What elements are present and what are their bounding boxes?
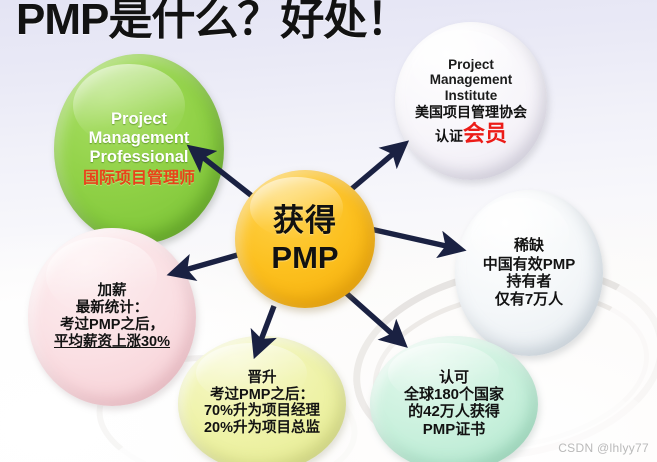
center-label-cn: 获得	[271, 203, 338, 238]
recognition-heading: 认可	[404, 370, 504, 385]
raise-body: 最新统计： 考过PMP之后， 平均薪资上涨30%	[54, 300, 170, 350]
bubble-project-management-institute[interactable]: Project Management Institute 美国项目管理协会 认证…	[395, 22, 547, 180]
scarcity-body-line-3: 仅有7万人	[483, 291, 576, 308]
arrow-to-recognize	[345, 292, 399, 340]
page-title: PMP是什么？好处！	[16, 0, 409, 42]
scarcity-body-line-2: 持有者	[483, 273, 576, 290]
arrow-to-pmi	[348, 148, 400, 192]
pmi-cert-line: 认证 会员	[415, 123, 527, 145]
scarcity-heading: 稀缺	[483, 238, 576, 253]
bubble-scarcity[interactable]: 稀缺 中国有效PMP 持有者 仅有7万人	[455, 190, 603, 356]
raise-heading: 加薪	[54, 284, 170, 299]
promotion-body-line-1: 考过PMP之后：	[204, 387, 320, 404]
pmi-en-line-3: Institute	[415, 88, 527, 103]
raise-body-line-1: 最新统计：	[54, 300, 170, 317]
pmi-en-line-2: Management	[415, 72, 527, 87]
promotion-body: 考过PMP之后： 70%升为项目经理 20%升为项目总监	[204, 387, 320, 437]
promotion-heading: 晋升	[204, 371, 320, 386]
recognition-body-line-1: 全球180个国家	[404, 386, 504, 403]
bubble-text-block: Project Management Institute 美国项目管理协会 认证…	[411, 57, 531, 145]
promotion-body-line-2: 70%升为项目经理	[204, 403, 320, 420]
pmp-en-line-3: Professional	[83, 148, 195, 167]
bubble-recognition[interactable]: 认可 全球180个国家 的42万人获得 PMP证书	[370, 336, 538, 462]
pmi-en-line-1: Project	[415, 57, 527, 72]
recognition-body-line-2: 的42万人获得	[404, 403, 504, 420]
pmi-cn-name: 美国项目管理协会	[415, 105, 527, 121]
bubble-project-management-professional[interactable]: Project Management Professional 国际项目管理师	[54, 54, 224, 244]
arrow-to-scarce	[366, 228, 455, 248]
pmp-cn-heading: 国际项目管理师	[83, 170, 195, 188]
pmi-cert-prefix: 认证	[435, 129, 463, 145]
pmi-cert-highlight: 会员	[463, 123, 507, 145]
bubble-text-block: 加薪 最新统计： 考过PMP之后， 平均薪资上涨30%	[50, 284, 174, 350]
center-label-abbr: PMP	[271, 240, 338, 275]
bubble-text-block: Project Management Professional 国际项目管理师	[79, 110, 199, 188]
bubble-promotion[interactable]: 晋升 考过PMP之后： 70%升为项目经理 20%升为项目总监	[178, 336, 346, 462]
bubble-salary-raise[interactable]: 加薪 最新统计： 考过PMP之后， 平均薪资上涨30%	[28, 228, 196, 406]
promotion-body-line-3: 20%升为项目总监	[204, 420, 320, 437]
bubble-text-block: 获得 PMP	[267, 203, 342, 275]
bubble-center-obtain-pmp[interactable]: 获得 PMP	[235, 170, 375, 308]
bubble-text-block: 稀缺 中国有效PMP 持有者 仅有7万人	[479, 238, 580, 307]
raise-body-line-2: 考过PMP之后，	[54, 317, 170, 334]
watermark: CSDN @lhlyy77	[558, 441, 649, 455]
bubble-text-block: 认可 全球180个国家 的42万人获得 PMP证书	[400, 370, 508, 437]
scarcity-body: 中国有效PMP 持有者 仅有7万人	[483, 256, 576, 307]
raise-body-line-3: 平均薪资上涨30%	[54, 334, 170, 351]
scarcity-body-line-1: 中国有效PMP	[483, 256, 576, 273]
pmp-en-line-2: Management	[83, 129, 195, 148]
pmp-en-line-1: Project	[83, 110, 195, 129]
recognition-body: 全球180个国家 的42万人获得 PMP证书	[404, 386, 504, 437]
recognition-body-line-3: PMP证书	[404, 421, 504, 438]
bubble-text-block: 晋升 考过PMP之后： 70%升为项目经理 20%升为项目总监	[200, 371, 324, 436]
pmp-benefits-diagram: PMP是什么？好处！ Project Management Profession…	[0, 0, 657, 462]
